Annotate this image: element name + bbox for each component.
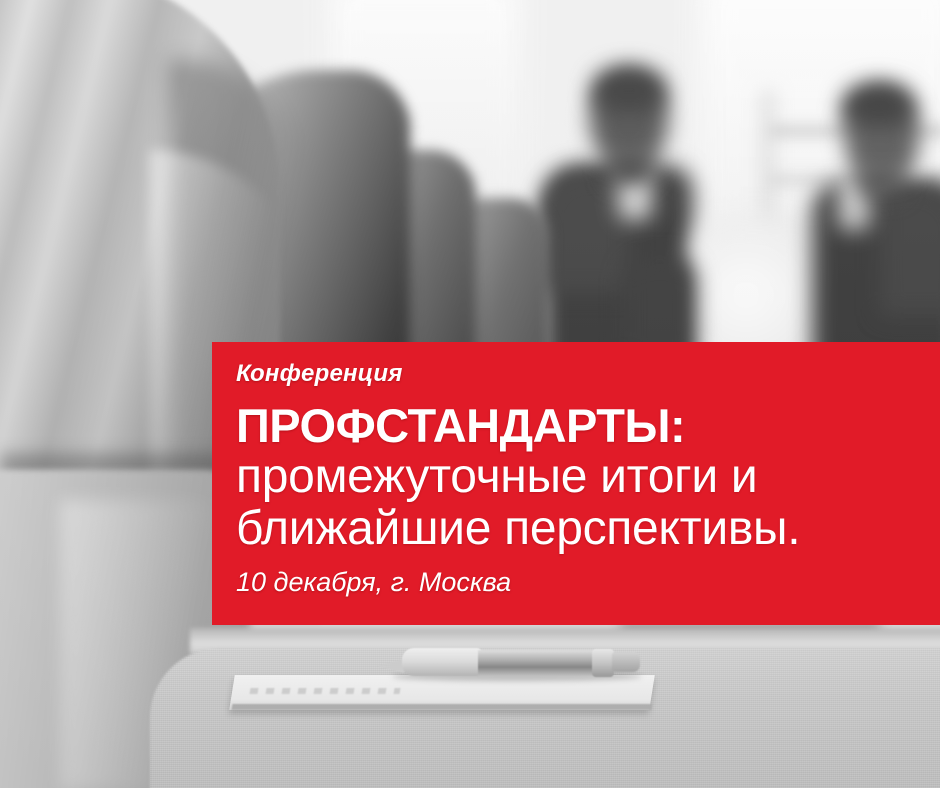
conference-poster: Конференция ПРОФСТАНДАРТЫ: промежуточные… xyxy=(0,0,940,788)
headline-line-2: промежуточные итоги и xyxy=(236,451,940,503)
paper-sheet-lines xyxy=(250,688,401,694)
businessman-right-hair xyxy=(842,82,914,126)
businessman-right-shoulder xyxy=(880,186,940,316)
pen-grip xyxy=(402,648,482,676)
event-kicker: Конференция xyxy=(236,362,940,386)
headline-line-3: ближайшие перспективы. xyxy=(236,503,940,555)
pen-tip xyxy=(378,659,404,673)
pen-clip xyxy=(612,652,640,672)
businessman-left-hair xyxy=(592,66,666,112)
paper-sheet-edge xyxy=(232,704,653,710)
event-dateline: 10 декабря, г. Москва xyxy=(236,569,940,596)
businessman-left-shoulder xyxy=(540,172,630,292)
pen-barrel xyxy=(478,650,598,676)
red-banner: Конференция ПРОФСТАНДАРТЫ: промежуточные… xyxy=(212,342,940,625)
headline-line-1: ПРОФСТАНДАРТЫ: xyxy=(236,402,940,449)
pen-band xyxy=(592,649,614,677)
